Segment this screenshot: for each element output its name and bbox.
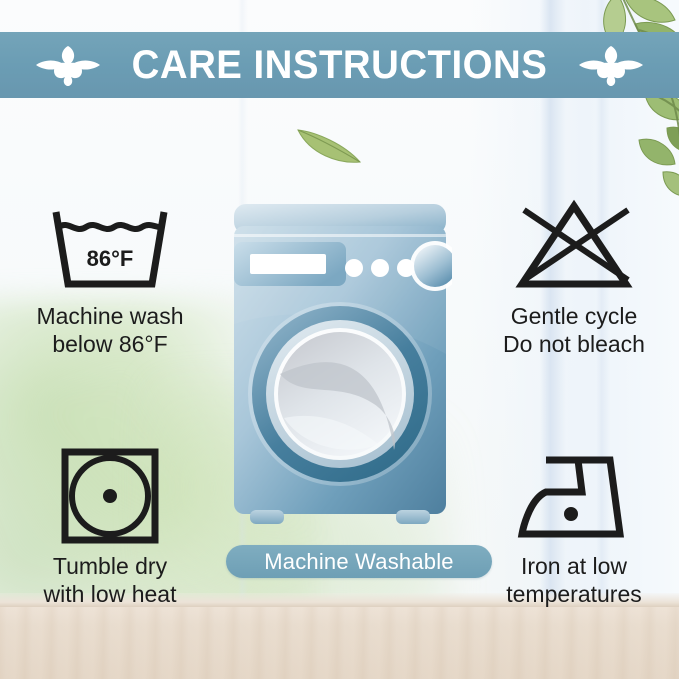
triangle-crossed-out-icon <box>470 190 678 302</box>
machine-washable-badge: Machine Washable <box>226 545 492 578</box>
care-caption: Machine wash below 86°F <box>6 302 214 358</box>
iron-one-dot-icon <box>470 440 678 552</box>
wash-temperature-value: 86°F <box>87 246 134 271</box>
page-title: CARE INSTRUCTIONS <box>132 45 548 85</box>
tumble-dry-square-circle-icon <box>6 440 214 552</box>
care-symbol-iron-low: Iron at low temperatures <box>470 440 678 608</box>
care-symbol-do-not-bleach: Gentle cycle Do not bleach <box>470 190 678 358</box>
fleur-de-lis-icon <box>35 42 101 88</box>
badge-label: Machine Washable <box>264 551 453 573</box>
wash-tub-icon: 86°F <box>6 190 214 302</box>
care-instructions-graphic: CARE INSTRUCTIONS <box>0 0 679 679</box>
washing-machine-illustration <box>228 204 452 534</box>
care-caption: Iron at low temperatures <box>470 552 678 608</box>
floating-leaf-decor <box>294 120 364 166</box>
care-caption: Tumble dry with low heat <box>6 552 214 608</box>
care-symbol-tumble-dry: Tumble dry with low heat <box>6 440 214 608</box>
header-banner: CARE INSTRUCTIONS <box>0 32 679 98</box>
fleur-de-lis-icon <box>578 42 644 88</box>
wood-table-surface <box>0 607 679 679</box>
care-symbol-machine-wash: 86°F Machine wash below 86°F <box>6 190 214 358</box>
care-caption: Gentle cycle Do not bleach <box>470 302 678 358</box>
